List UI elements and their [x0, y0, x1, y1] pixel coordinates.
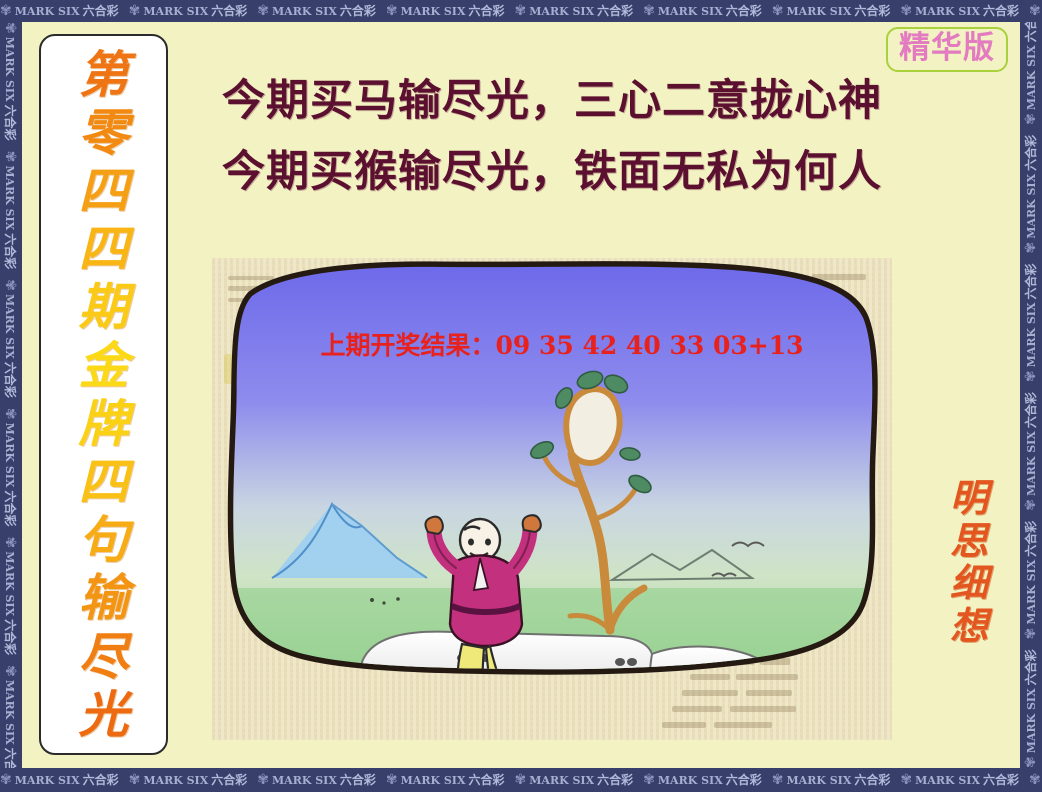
border-chinese-label: 六合彩 — [340, 5, 376, 17]
border-chinese-label: 六合彩 — [854, 774, 890, 786]
border-chinese-label: 六合彩 — [1025, 22, 1037, 42]
border-latin-label: MARK SIX — [15, 775, 80, 786]
flower-icon: ✾ — [386, 4, 398, 18]
issue-title-char: 四 — [79, 225, 129, 273]
flower-icon: ✾ — [3, 665, 17, 677]
border-latin-label: MARK SIX — [272, 775, 337, 786]
border-pattern-unit: ✾MARK SIX六合彩 — [900, 4, 1019, 18]
border-latin-label: MARK SIX — [529, 6, 594, 17]
border-right-inner: ✾MARK SIX六合彩✾MARK SIX六合彩✾MARK SIX六合彩✾MAR… — [1020, 22, 1042, 768]
border-latin-label: MARK SIX — [658, 6, 723, 17]
edition-badge: 精华版 — [886, 27, 1008, 72]
border-pattern-unit: ✾MARK SIX六合彩 — [515, 773, 634, 787]
flower-icon: ✾ — [900, 4, 912, 18]
border-latin-label: MARK SIX — [786, 775, 851, 786]
border-pattern-unit: ✾MARK SIX六合彩 — [129, 773, 248, 787]
border-pattern-unit: ✾MARK SIX六合彩 — [3, 22, 17, 141]
flower-icon: ✾ — [1024, 756, 1038, 768]
border-latin-label: MARK SIX — [5, 680, 16, 745]
issue-title-char: 金 — [79, 342, 129, 390]
border-pattern-unit: ✾MARK SIX六合彩 — [0, 4, 119, 18]
border-latin-label: MARK SIX — [1026, 303, 1037, 368]
border-strip-left: ✾MARK SIX六合彩✾MARK SIX六合彩✾MARK SIX六合彩✾MAR… — [0, 22, 22, 768]
border-pattern-unit: ✾MARK SIX六合彩 — [3, 408, 17, 527]
border-chinese-label: 六合彩 — [854, 5, 890, 17]
border-pattern-unit: ✾MARK SIX六合彩 — [3, 279, 17, 398]
border-pattern-unit: ✾MARK SIX六合彩 — [3, 151, 17, 270]
flower-icon: ✾ — [1024, 628, 1038, 640]
flower-icon: ✾ — [257, 4, 269, 18]
flower-icon: ✾ — [257, 773, 269, 787]
flower-icon: ✾ — [3, 408, 17, 420]
flower-icon: ✾ — [129, 4, 141, 18]
border-latin-label: MARK SIX — [1026, 688, 1037, 753]
flower-icon: ✾ — [3, 151, 17, 163]
border-chinese-label: 六合彩 — [83, 774, 119, 786]
issue-title-char: 输 — [79, 574, 129, 622]
issue-title-char: 期 — [79, 283, 129, 331]
border-chinese-label: 六合彩 — [1025, 521, 1037, 557]
border-chinese-label: 六合彩 — [1025, 392, 1037, 428]
border-pattern-unit: ✾MARK SIX六合彩 — [1024, 264, 1038, 383]
border-chinese-label: 六合彩 — [83, 5, 119, 17]
border-latin-label: MARK SIX — [1026, 560, 1037, 625]
border-chinese-label: 六合彩 — [4, 362, 16, 398]
flower-icon: ✾ — [643, 4, 655, 18]
flower-icon: ✾ — [3, 22, 17, 34]
border-latin-label: MARK SIX — [915, 6, 980, 17]
issue-title-char: 尽 — [79, 633, 129, 681]
flower-icon: ✾ — [1024, 499, 1038, 511]
illustration-svg: 上期开奖结果：09 35 42 40 33 03+13 — [212, 258, 892, 740]
lottery-result-text: 上期开奖结果：09 35 42 40 33 03+13 — [321, 331, 804, 360]
border-pattern-unit: ✾MARK SIX六合彩 — [772, 4, 891, 18]
border-chinese-label: 六合彩 — [1025, 649, 1037, 685]
flower-icon: ✾ — [1024, 370, 1038, 382]
border-pattern-unit: ✾MARK SIX六合彩 — [3, 665, 17, 768]
flower-icon: ✾ — [515, 4, 527, 18]
issue-title-char: 光 — [79, 691, 129, 739]
border-left-inner: ✾MARK SIX六合彩✾MARK SIX六合彩✾MARK SIX六合彩✾MAR… — [0, 22, 21, 768]
border-pattern-unit: ✾MARK SIX六合彩 — [1024, 22, 1038, 125]
border-latin-label: MARK SIX — [1026, 431, 1037, 496]
border-pattern-unit: ✾MARK SIX六合彩 — [643, 4, 762, 18]
border-latin-label: MARK SIX — [5, 551, 16, 616]
motto-char: 细 — [940, 562, 998, 605]
poster-card: 第零四四期金牌四句输尽光 今期买马输尽光，三心二意拢心神 今期买猴输尽光，铁面无… — [22, 22, 1020, 768]
flower-icon: ✾ — [772, 773, 784, 787]
issue-title-char: 零 — [79, 109, 129, 157]
border-chinese-label: 六合彩 — [597, 5, 633, 17]
border-chinese-label: 六合彩 — [1025, 135, 1037, 171]
border-pattern-unit: ✾MARK SIX六合彩 — [515, 4, 634, 18]
border-strip-bottom: ✾MARK SIX六合彩✾MARK SIX六合彩✾MARK SIX六合彩✾MAR… — [0, 768, 1042, 792]
border-latin-label: MARK SIX — [786, 6, 851, 17]
border-pattern-unit: ✾MARK SIX六合彩 — [1024, 392, 1038, 511]
couplet-block: 今期买马输尽光，三心二意拢心神 今期买猴输尽光，铁面无私为何人 — [182, 80, 922, 222]
border-pattern-unit: ✾MARK SIX六合彩 — [772, 773, 891, 787]
couplet-line-2: 今期买猴输尽光，铁面无私为何人 — [182, 151, 922, 194]
border-chinese-label: 六合彩 — [4, 233, 16, 269]
border-chinese-label: 六合彩 — [468, 774, 504, 786]
couplet-line-1: 今期买马输尽光，三心二意拢心神 — [182, 80, 922, 123]
issue-title-char: 第 — [79, 51, 129, 99]
issue-title-char: 句 — [79, 516, 129, 564]
border-chinese-label: 六合彩 — [340, 774, 376, 786]
border-chinese-label: 六合彩 — [1025, 264, 1037, 300]
border-latin-label: MARK SIX — [5, 423, 16, 488]
issue-title-panel: 第零四四期金牌四句输尽光 — [39, 34, 168, 755]
border-latin-label: MARK SIX — [1026, 45, 1037, 110]
border-latin-label: MARK SIX — [5, 294, 16, 359]
issue-title-char: 牌 — [79, 400, 129, 448]
border-pattern-unit: ✾MARK SIX六合彩 — [257, 773, 376, 787]
border-pattern-unit: ✾MARK SIX六合彩 — [0, 773, 119, 787]
border-pattern-unit: ✾MARK SIX六合彩 — [1024, 649, 1038, 768]
flower-icon: ✾ — [1024, 113, 1038, 125]
border-latin-label: MARK SIX — [15, 6, 80, 17]
border-chinese-label: 六合彩 — [983, 5, 1019, 17]
flower-icon: ✾ — [772, 4, 784, 18]
border-latin-label: MARK SIX — [658, 775, 723, 786]
border-pattern-unit: ✾MARK SIX六合彩 — [1029, 773, 1042, 787]
border-pattern-unit: ✾MARK SIX六合彩 — [3, 537, 17, 656]
flower-icon: ✾ — [1024, 242, 1038, 254]
border-pattern-unit: ✾MARK SIX六合彩 — [1029, 4, 1042, 18]
border-chinese-label: 六合彩 — [211, 5, 247, 17]
flower-icon: ✾ — [900, 773, 912, 787]
illustration: 上期开奖结果：09 35 42 40 33 03+13 — [212, 258, 892, 740]
border-chinese-label: 六合彩 — [4, 105, 16, 141]
border-pattern-unit: ✾MARK SIX六合彩 — [1024, 135, 1038, 254]
flower-icon: ✾ — [3, 279, 17, 291]
border-strip-top: ✾MARK SIX六合彩✾MARK SIX六合彩✾MARK SIX六合彩✾MAR… — [0, 0, 1042, 22]
flower-icon: ✾ — [515, 773, 527, 787]
border-chinese-label: 六合彩 — [4, 490, 16, 526]
border-latin-label: MARK SIX — [401, 775, 466, 786]
border-chinese-label: 六合彩 — [597, 774, 633, 786]
border-pattern-unit: ✾MARK SIX六合彩 — [129, 4, 248, 18]
poster-root: ✾MARK SIX六合彩✾MARK SIX六合彩✾MARK SIX六合彩✾MAR… — [0, 0, 1042, 792]
motto-char: 思 — [940, 520, 998, 563]
border-pattern-unit: ✾MARK SIX六合彩 — [1024, 521, 1038, 640]
issue-title-char: 四 — [79, 167, 129, 215]
border-latin-label: MARK SIX — [5, 37, 16, 102]
flower-icon: ✾ — [1029, 4, 1041, 18]
border-chinese-label: 六合彩 — [726, 774, 762, 786]
motto-char: 明 — [940, 477, 998, 520]
border-latin-label: MARK SIX — [401, 6, 466, 17]
border-latin-label: MARK SIX — [1026, 174, 1037, 239]
border-latin-label: MARK SIX — [272, 6, 337, 17]
flower-icon: ✾ — [3, 537, 17, 549]
flower-icon: ✾ — [129, 773, 141, 787]
border-chinese-label: 六合彩 — [726, 5, 762, 17]
border-pattern-unit: ✾MARK SIX六合彩 — [386, 4, 505, 18]
border-pattern-unit: ✾MARK SIX六合彩 — [900, 773, 1019, 787]
border-strip-right: ✾MARK SIX六合彩✾MARK SIX六合彩✾MARK SIX六合彩✾MAR… — [1020, 22, 1042, 768]
border-chinese-label: 六合彩 — [4, 748, 16, 768]
border-latin-label: MARK SIX — [915, 775, 980, 786]
border-latin-label: MARK SIX — [529, 775, 594, 786]
border-chinese-label: 六合彩 — [468, 5, 504, 17]
border-latin-label: MARK SIX — [143, 6, 208, 17]
issue-title-char: 四 — [79, 458, 129, 506]
border-chinese-label: 六合彩 — [211, 774, 247, 786]
flower-icon: ✾ — [0, 773, 12, 787]
border-pattern-unit: ✾MARK SIX六合彩 — [643, 773, 762, 787]
border-chinese-label: 六合彩 — [983, 774, 1019, 786]
motto-char: 想 — [940, 605, 998, 648]
border-pattern-unit: ✾MARK SIX六合彩 — [386, 773, 505, 787]
border-pattern-unit: ✾MARK SIX六合彩 — [257, 4, 376, 18]
border-chinese-label: 六合彩 — [4, 619, 16, 655]
flower-icon: ✾ — [1029, 773, 1041, 787]
motto-panel: 明思细想 — [940, 477, 998, 647]
flower-icon: ✾ — [0, 4, 12, 18]
flower-icon: ✾ — [643, 773, 655, 787]
flower-icon: ✾ — [386, 773, 398, 787]
border-latin-label: MARK SIX — [143, 775, 208, 786]
border-latin-label: MARK SIX — [5, 165, 16, 230]
